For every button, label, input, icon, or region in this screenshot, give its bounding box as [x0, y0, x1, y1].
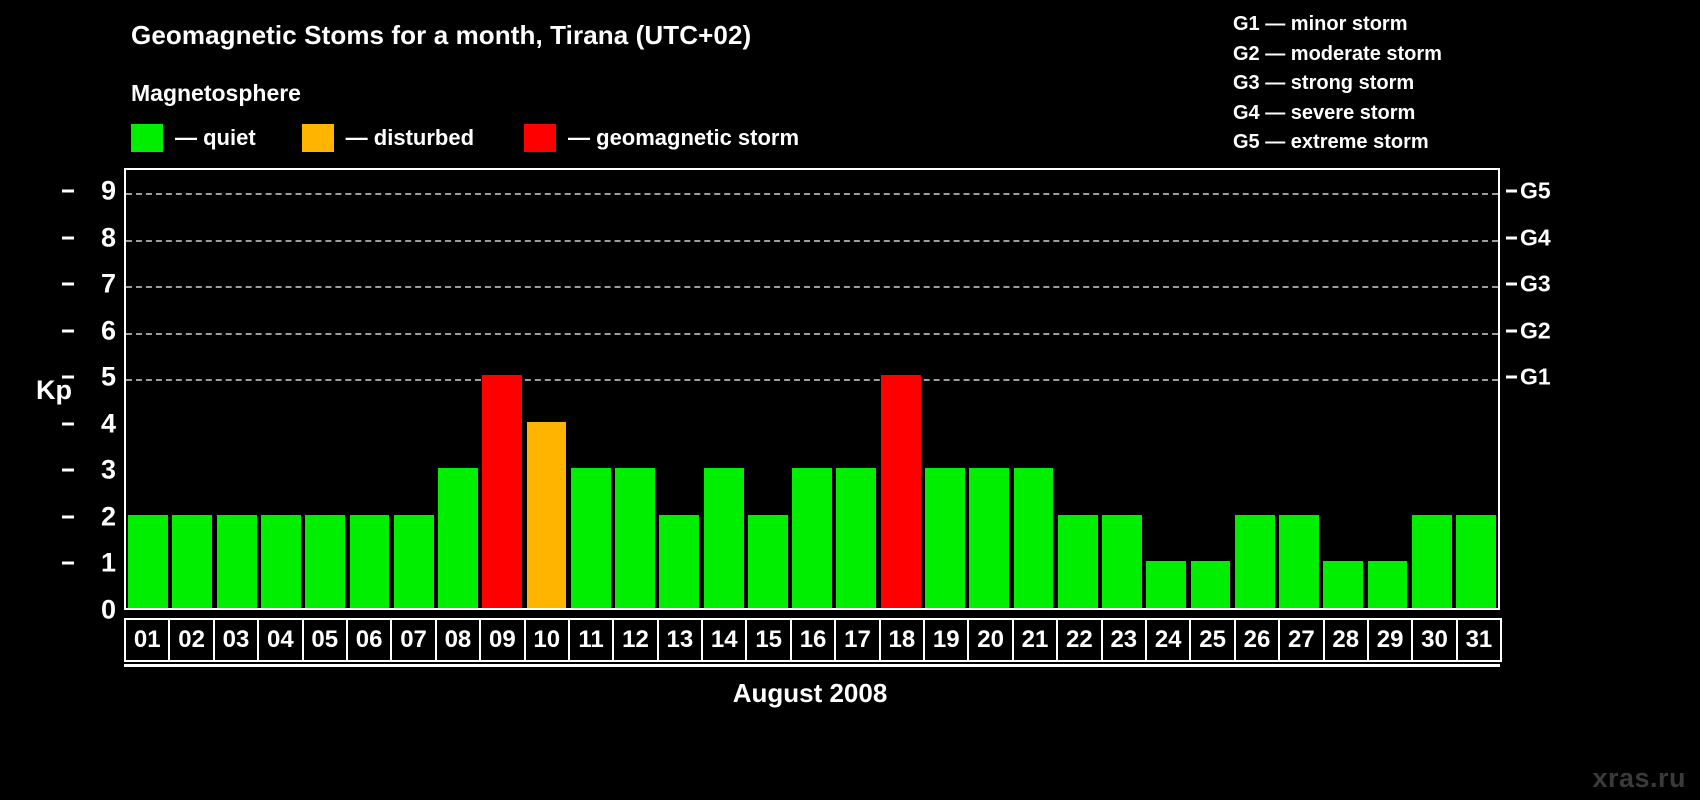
plot-area: [124, 168, 1500, 610]
x-tick-day-03[interactable]: 03: [213, 618, 259, 662]
x-tick-day-17[interactable]: 17: [834, 618, 880, 662]
x-axis-title: August 2008: [0, 678, 1700, 709]
x-tick-day-16[interactable]: 16: [790, 618, 836, 662]
red-square-icon: [524, 124, 556, 152]
x-tick-day-29[interactable]: 29: [1367, 618, 1413, 662]
bar-cell[interactable]: [1056, 170, 1100, 608]
bar-day-11[interactable]: [571, 468, 611, 608]
bar-day-31[interactable]: [1456, 515, 1496, 608]
g-tick-label-G2: G2: [1520, 317, 1551, 344]
x-tick-day-22[interactable]: 22: [1056, 618, 1102, 662]
bar-cell[interactable]: [1277, 170, 1321, 608]
bar-day-20[interactable]: [969, 468, 1009, 608]
legend-item-disturbed: — disturbed: [302, 124, 474, 152]
legend-label-storm: — geomagnetic storm: [568, 125, 799, 151]
legend-label-disturbed: — disturbed: [346, 125, 474, 151]
bar-day-05[interactable]: [305, 515, 345, 608]
bar-day-19[interactable]: [925, 468, 965, 608]
g-tick-label-G5: G5: [1520, 178, 1551, 205]
bar-cell[interactable]: [613, 170, 657, 608]
bar-cell[interactable]: [259, 170, 303, 608]
y-tick-label-5: 5: [101, 364, 116, 391]
bar-day-25[interactable]: [1191, 561, 1231, 608]
x-tick-day-09[interactable]: 09: [479, 618, 525, 662]
x-tick-day-12[interactable]: 12: [612, 618, 658, 662]
bar-day-23[interactable]: [1102, 515, 1142, 608]
bar-cell[interactable]: [967, 170, 1011, 608]
bar-cell[interactable]: [834, 170, 878, 608]
bar-cell[interactable]: [879, 170, 923, 608]
bar-day-01[interactable]: [128, 515, 168, 608]
bar-cell[interactable]: [1410, 170, 1454, 608]
x-tick-day-06[interactable]: 06: [346, 618, 392, 662]
y-tick-mark-3: [62, 469, 74, 472]
x-axis-title-text: August 2008: [733, 678, 888, 709]
x-tick-day-07[interactable]: 07: [390, 618, 436, 662]
y-tick-mark-9: [62, 190, 74, 193]
bar-cell[interactable]: [392, 170, 436, 608]
bar-day-03[interactable]: [217, 515, 257, 608]
g-scale-line-g4: G4 — severe storm: [1233, 99, 1442, 129]
x-tick-day-01[interactable]: 01: [124, 618, 170, 662]
green-square-icon: [131, 124, 163, 152]
x-tick-day-19[interactable]: 19: [923, 618, 969, 662]
y-tick-label-0: 0: [101, 597, 116, 624]
g-tick-mark-G2: [1506, 329, 1517, 332]
bar-day-21[interactable]: [1014, 468, 1054, 608]
y-tick-label-6: 6: [101, 317, 116, 344]
bar-day-27[interactable]: [1279, 515, 1319, 608]
y-tick-mark-6: [62, 329, 74, 332]
bar-day-07[interactable]: [394, 515, 434, 608]
bar-cell[interactable]: [347, 170, 391, 608]
y-tick-label-3: 3: [101, 457, 116, 484]
x-tick-day-04[interactable]: 04: [257, 618, 303, 662]
bar-cell[interactable]: [436, 170, 480, 608]
bar-day-15[interactable]: [748, 515, 788, 608]
x-tick-day-18[interactable]: 18: [879, 618, 925, 662]
y-tick-mark-5: [62, 376, 74, 379]
x-tick-day-02[interactable]: 02: [168, 618, 214, 662]
bar-day-06[interactable]: [350, 515, 390, 608]
bar-cell[interactable]: [1011, 170, 1055, 608]
bar-day-10[interactable]: [527, 422, 567, 608]
y-tick-mark-7: [62, 283, 74, 286]
bar-cell[interactable]: [480, 170, 524, 608]
chart-page: Geomagnetic Stoms for a month, Tirana (U…: [0, 0, 1700, 800]
bar-cell[interactable]: [1144, 170, 1188, 608]
bar-day-12[interactable]: [615, 468, 655, 608]
x-tick-day-26[interactable]: 26: [1234, 618, 1280, 662]
g-tick-mark-G1: [1506, 376, 1517, 379]
g-scale-line-g5: G5 — extreme storm: [1233, 128, 1442, 158]
bar-cell[interactable]: [303, 170, 347, 608]
g-scale-line-g3: G3 — strong storm: [1233, 69, 1442, 99]
x-tick-day-14[interactable]: 14: [701, 618, 747, 662]
bar-day-08[interactable]: [438, 468, 478, 608]
g-scale-line-g1: G1 — minor storm: [1233, 10, 1442, 40]
x-tick-day-27[interactable]: 27: [1278, 618, 1324, 662]
bar-cell[interactable]: [215, 170, 259, 608]
g-tick-label-G4: G4: [1520, 224, 1551, 251]
x-tick-day-10[interactable]: 10: [524, 618, 570, 662]
magnetosphere-label: Magnetosphere: [131, 80, 301, 107]
x-tick-day-15[interactable]: 15: [745, 618, 791, 662]
g-scale-legend: G1 — minor storm G2 — moderate storm G3 …: [1233, 10, 1442, 158]
bar-cell[interactable]: [1100, 170, 1144, 608]
y-tick-label-7: 7: [101, 271, 116, 298]
bar-cell[interactable]: [701, 170, 745, 608]
g-scale-axis: G5G4G3G2G1: [1506, 168, 1586, 610]
x-tick-day-31[interactable]: 31: [1456, 618, 1502, 662]
bar-day-16[interactable]: [792, 468, 832, 608]
bar-day-04[interactable]: [261, 515, 301, 608]
bar-day-17[interactable]: [836, 468, 876, 608]
legend-item-storm: — geomagnetic storm: [524, 124, 799, 152]
y-tick-label-8: 8: [101, 224, 116, 251]
bar-cell[interactable]: [1233, 170, 1277, 608]
y-tick-label-2: 2: [101, 503, 116, 530]
x-tick-day-13[interactable]: 13: [657, 618, 703, 662]
legend: — quiet — disturbed — geomagnetic storm: [131, 122, 799, 154]
y-tick-mark-4: [62, 422, 74, 425]
y-axis-title: Kp: [36, 375, 72, 406]
bar-cell[interactable]: [1188, 170, 1232, 608]
bar-cell[interactable]: [126, 170, 170, 608]
y-tick-mark-2: [62, 515, 74, 518]
y-tick-label-4: 4: [101, 410, 116, 437]
g-tick-mark-G5: [1506, 190, 1517, 193]
g-tick-label-G1: G1: [1520, 364, 1551, 391]
bar-day-29[interactable]: [1368, 561, 1408, 608]
bar-day-28[interactable]: [1323, 561, 1363, 608]
bar-day-22[interactable]: [1058, 515, 1098, 608]
x-tick-day-30[interactable]: 30: [1411, 618, 1457, 662]
bar-day-24[interactable]: [1146, 561, 1186, 608]
y-tick-label-1: 1: [101, 550, 116, 577]
bar-day-14[interactable]: [704, 468, 744, 608]
bar-day-30[interactable]: [1412, 515, 1452, 608]
bar-day-26[interactable]: [1235, 515, 1275, 608]
x-axis-day-labels: 0102030405060708091011121314151617181920…: [124, 618, 1500, 662]
bar-cell[interactable]: [170, 170, 214, 608]
x-axis-line: [124, 664, 1500, 667]
y-tick-label-9: 9: [101, 178, 116, 205]
bar-day-18[interactable]: [881, 375, 921, 608]
watermark: xras.ru: [1592, 763, 1686, 794]
bar-cell[interactable]: [746, 170, 790, 608]
x-tick-day-28[interactable]: 28: [1323, 618, 1369, 662]
g-tick-label-G3: G3: [1520, 271, 1551, 298]
bar-cell[interactable]: [657, 170, 701, 608]
x-tick-day-23[interactable]: 23: [1101, 618, 1147, 662]
bar-cell[interactable]: [923, 170, 967, 608]
bar-series: [126, 170, 1498, 608]
y-tick-mark-1: [62, 562, 74, 565]
legend-label-quiet: — quiet: [175, 125, 256, 151]
bar-cell[interactable]: [524, 170, 568, 608]
y-tick-mark-8: [62, 236, 74, 239]
bar-day-13[interactable]: [659, 515, 699, 608]
legend-item-quiet: — quiet: [131, 124, 256, 152]
x-tick-day-20[interactable]: 20: [967, 618, 1013, 662]
bar-cell[interactable]: [569, 170, 613, 608]
x-tick-day-05[interactable]: 05: [302, 618, 348, 662]
g-tick-mark-G3: [1506, 283, 1517, 286]
bar-cell[interactable]: [1321, 170, 1365, 608]
x-tick-day-21[interactable]: 21: [1012, 618, 1058, 662]
x-tick-day-08[interactable]: 08: [435, 618, 481, 662]
bar-cell[interactable]: [1365, 170, 1409, 608]
orange-square-icon: [302, 124, 334, 152]
g-tick-mark-G4: [1506, 236, 1517, 239]
bar-day-02[interactable]: [172, 515, 212, 608]
x-tick-day-24[interactable]: 24: [1145, 618, 1191, 662]
page-title: Geomagnetic Stoms for a month, Tirana (U…: [131, 20, 751, 51]
bar-day-09[interactable]: [482, 375, 522, 608]
x-tick-day-11[interactable]: 11: [568, 618, 614, 662]
x-tick-day-25[interactable]: 25: [1189, 618, 1235, 662]
bar-cell[interactable]: [1454, 170, 1498, 608]
bar-cell[interactable]: [790, 170, 834, 608]
g-scale-line-g2: G2 — moderate storm: [1233, 40, 1442, 70]
